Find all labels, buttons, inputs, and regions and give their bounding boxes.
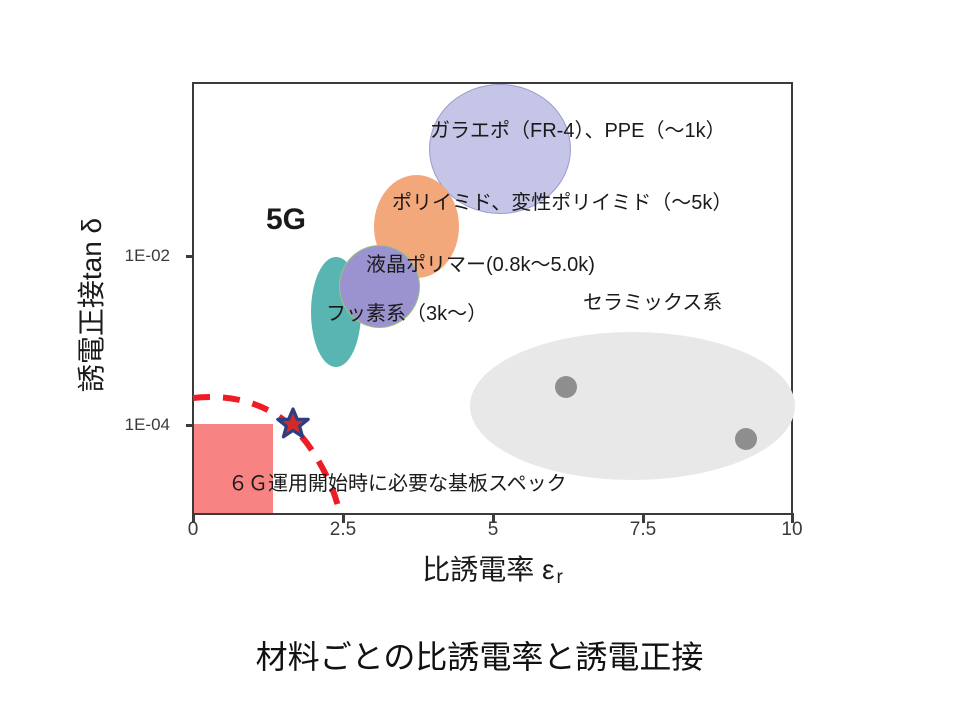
x-tick-label-2-5: 2.5 xyxy=(313,519,373,541)
y-axis-title: 誘電正接tan δ xyxy=(70,155,110,455)
label-fluorine: フッ素系（3k〜） xyxy=(326,297,487,326)
x-tick-label-7-5: 7.5 xyxy=(613,519,673,541)
x-tick-label-5: 5 xyxy=(463,519,523,541)
y-tick-label-1e-04: 1E-04 xyxy=(50,415,170,435)
bubble-ceramics xyxy=(470,332,795,480)
label-liquid-crystal-polymer: 液晶ポリマー(0.8k〜5.0k) xyxy=(366,248,595,277)
chart-figure: 誘電正接tan δ 1E-02 1E-04 5G ガラエポ（FR-4）、PPE（… xyxy=(0,0,959,719)
x-axis-title: 比誘電率 εr xyxy=(192,548,793,589)
x-tick-label-0: 0 xyxy=(163,519,223,541)
x-tick-label-10: 10 xyxy=(762,519,822,541)
y-tick-label-1e-02: 1E-02 xyxy=(50,246,170,266)
figure-caption: 材料ごとの比誘電率と誘電正接 xyxy=(0,632,959,678)
x-axis-title-main: 比誘電率 ε xyxy=(422,554,554,585)
annotation-5g: 5G xyxy=(266,203,306,237)
data-point-ceramic-2 xyxy=(735,428,757,450)
label-6g-spec: ６Ｇ運用開始時に必要な基板スペック xyxy=(228,467,567,496)
label-polyimide: ポリイミド、変性ポリイミド（〜5k） xyxy=(392,186,732,215)
label-glass-epoxy: ガラエポ（FR-4）、PPE（〜1k） xyxy=(430,114,726,143)
x-axis-title-subscript: r xyxy=(554,567,562,588)
data-point-ceramic-1 xyxy=(555,376,577,398)
label-ceramics: セラミックス系 xyxy=(583,286,722,315)
